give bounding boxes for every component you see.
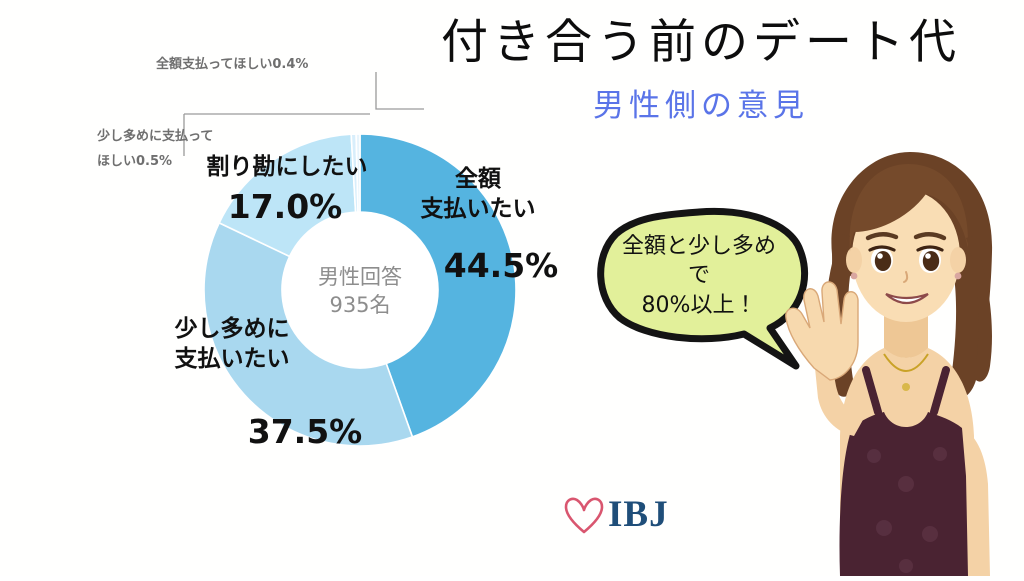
slice-label-want-full-paid: 全額支払ってほしい0.4%	[156, 56, 308, 72]
donut-chart: 男性回答 935名 全額 支払いたい 44.5% 少し多めに 支払いたい 37.…	[0, 46, 600, 546]
ear-right	[950, 247, 966, 273]
eye-highlight-left	[877, 253, 883, 259]
earring-right	[955, 273, 962, 280]
dress	[840, 412, 975, 576]
leader-line-want-full-paid	[376, 72, 424, 109]
slice-label-want-more-paid-line1: 少し多めに支払って	[97, 128, 213, 144]
slice-label-full-pay-line2: 支払いたい	[421, 196, 536, 222]
woman-illustration	[780, 136, 1024, 576]
callout-line-3: 80%以上！	[594, 291, 804, 320]
iris-right	[923, 251, 939, 271]
callout-line-2: で	[594, 261, 804, 290]
callout-line-1: 全額と少し多め	[594, 232, 804, 261]
donut-hole	[282, 212, 438, 368]
center-label-respondent-count: 935名	[329, 293, 390, 317]
slice-label-pay-more-line2: 支払いたい	[175, 346, 290, 372]
slice-value-full-pay: 44.5%	[444, 246, 559, 285]
hand-waving	[786, 282, 858, 380]
iris-left	[875, 251, 891, 271]
eye-highlight-right	[925, 253, 931, 259]
heart-icon	[562, 494, 606, 536]
slice-label-full-pay-line1: 全額	[455, 166, 502, 192]
slice-label-want-more-paid-line2: ほしい0.5%	[97, 154, 172, 169]
ibj-logo: IBJ	[562, 494, 682, 540]
slice-label-pay-more-line1: 少し多めに	[175, 315, 290, 342]
ear-left	[846, 247, 862, 273]
center-label-respondent-type: 男性回答	[318, 265, 402, 289]
slice-value-pay-more: 37.5%	[248, 412, 363, 451]
necklace-pendant	[902, 383, 910, 391]
slice-value-split-bill: 17.0%	[228, 187, 343, 226]
slice-label-split-bill: 割り勘にしたい	[207, 154, 368, 180]
earring-left	[851, 273, 858, 280]
ibj-logo-text: IBJ	[608, 493, 669, 536]
callout-text: 全額と少し多め で 80%以上！	[594, 232, 804, 320]
